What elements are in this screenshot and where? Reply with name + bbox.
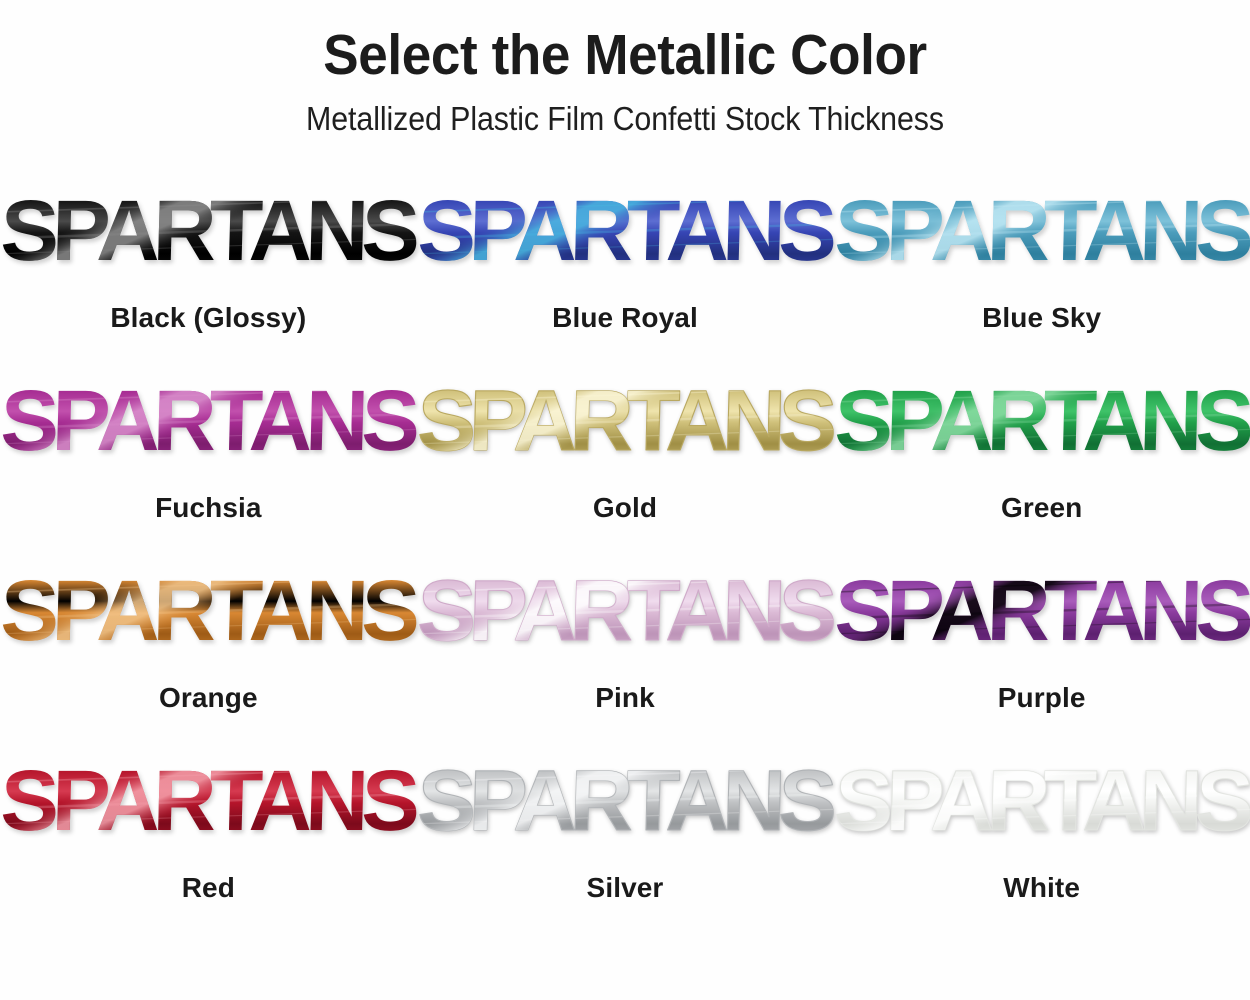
swatch-label-silver: Silver: [587, 872, 664, 904]
metallic-color-selector-page: Select the Metallic Color Metallized Pla…: [0, 0, 1250, 1000]
swatch-pink[interactable]: SPARTANSSPARTANSPink: [417, 562, 834, 752]
swatch-artwork-green: SPARTANSSPARTANS: [867, 376, 1217, 480]
swatch-artwork-silver: SPARTANSSPARTANS: [450, 756, 800, 860]
swatch-blue-royal[interactable]: SPARTANSSPARTANSBlue Royal: [417, 182, 834, 372]
swatch-label-fuchsia: Fuchsia: [155, 492, 262, 524]
swatch-artwork-gold: SPARTANSSPARTANS: [450, 376, 800, 480]
swatch-artwork-purple: SPARTANSSPARTANS: [867, 566, 1217, 670]
swatch-artwork-black-glossy: SPARTANSSPARTANS: [33, 186, 383, 290]
swatch-white[interactable]: SPARTANSSPARTANSWhite: [833, 752, 1250, 942]
swatch-red[interactable]: SPARTANSSPARTANSRed: [0, 752, 417, 942]
swatch-green[interactable]: SPARTANSSPARTANSGreen: [833, 372, 1250, 562]
swatch-label-gold: Gold: [593, 492, 657, 524]
swatch-silver[interactable]: SPARTANSSPARTANSSilver: [417, 752, 834, 942]
swatch-label-white: White: [1003, 872, 1080, 904]
swatch-blue-sky[interactable]: SPARTANSSPARTANSBlue Sky: [833, 182, 1250, 372]
page-header: Select the Metallic Color Metallized Pla…: [0, 0, 1250, 138]
swatch-artwork-white: SPARTANSSPARTANS: [867, 756, 1217, 860]
swatch-orange[interactable]: SPARTANSSPARTANSOrange: [0, 562, 417, 752]
swatch-label-red: Red: [182, 872, 235, 904]
swatch-artwork-pink: SPARTANSSPARTANS: [450, 566, 800, 670]
swatch-artwork-fuchsia: SPARTANSSPARTANS: [33, 376, 383, 480]
swatch-artwork-blue-royal: SPARTANSSPARTANS: [450, 186, 800, 290]
page-title: Select the Metallic Color: [44, 26, 1207, 86]
swatch-label-black-glossy: Black (Glossy): [110, 302, 306, 334]
swatch-fuchsia[interactable]: SPARTANSSPARTANSFuchsia: [0, 372, 417, 562]
swatch-label-blue-sky: Blue Sky: [982, 302, 1101, 334]
swatch-label-green: Green: [1001, 492, 1082, 524]
swatch-label-pink: Pink: [595, 682, 655, 714]
swatch-label-orange: Orange: [159, 682, 258, 714]
color-swatch-grid: SPARTANSSPARTANSBlack (Glossy)SPARTANSSP…: [0, 182, 1250, 942]
swatch-purple[interactable]: SPARTANSSPARTANSPurple: [833, 562, 1250, 752]
page-subtitle: Metallized Plastic Film Confetti Stock T…: [50, 100, 1200, 138]
swatch-label-blue-royal: Blue Royal: [552, 302, 698, 334]
swatch-label-purple: Purple: [998, 682, 1086, 714]
swatch-artwork-red: SPARTANSSPARTANS: [33, 756, 383, 860]
swatch-artwork-blue-sky: SPARTANSSPARTANS: [867, 186, 1217, 290]
swatch-gold[interactable]: SPARTANSSPARTANSGold: [417, 372, 834, 562]
swatch-black-glossy[interactable]: SPARTANSSPARTANSBlack (Glossy): [0, 182, 417, 372]
swatch-artwork-orange: SPARTANSSPARTANS: [33, 566, 383, 670]
